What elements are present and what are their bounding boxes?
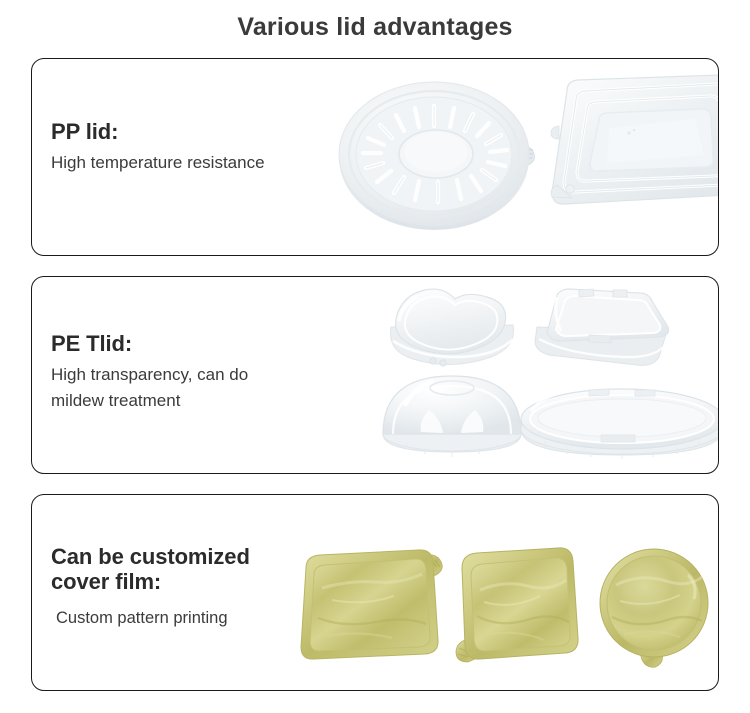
pp-lid-text-block: PP lid: High temperature resistance (51, 119, 351, 176)
round-gold-film-image (590, 547, 719, 669)
pp-lid-description: High temperature resistance (51, 150, 351, 176)
pp-lid-image-group (332, 59, 718, 255)
pe-lid-text-block: PE Tlid: High transparency, can do milde… (51, 331, 351, 414)
page-title: Various lid advantages (0, 0, 750, 43)
round-pp-lid-image (337, 72, 547, 237)
card-pe-lid: PE Tlid: High transparency, can do milde… (31, 276, 719, 474)
pe-lid-image-group (332, 277, 718, 473)
dome-pe-lid-image (377, 372, 527, 464)
oval-pe-lid-image (515, 385, 719, 463)
pe-lid-description-line2: mildew treatment (51, 388, 351, 414)
square-pe-lid-image (527, 287, 677, 377)
rectangular-pp-lid-image (537, 73, 719, 228)
square-gold-film-image (450, 546, 590, 668)
pe-lid-description-line1: High transparency, can do (51, 362, 351, 388)
cover-film-image-group (332, 495, 718, 690)
heart-pe-lid-image (377, 285, 537, 375)
card-pp-lid: PP lid: High temperature resistance (31, 58, 719, 256)
pp-lid-heading: PP lid: (51, 119, 351, 145)
pe-lid-heading: PE Tlid: (51, 331, 351, 357)
card-cover-film: Can be customized cover film: Custom pat… (31, 494, 719, 691)
rectangular-gold-film-image (292, 548, 462, 663)
